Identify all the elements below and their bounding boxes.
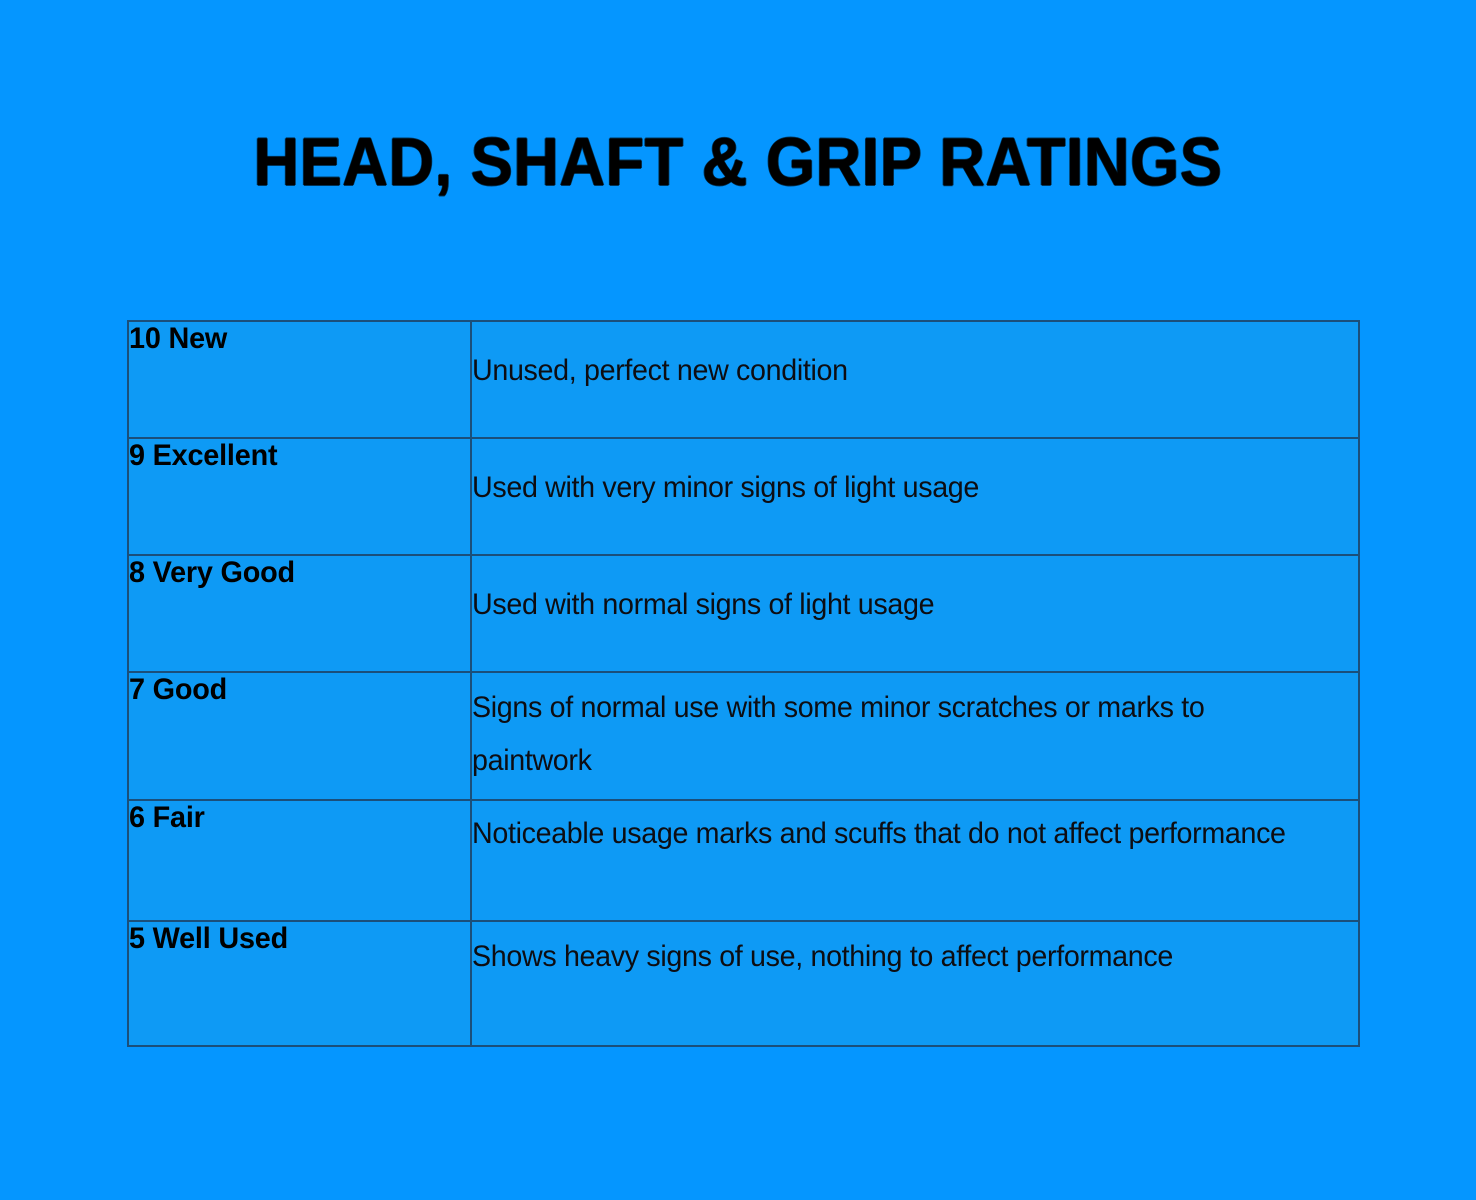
description-text: Unused, perfect new condition — [472, 322, 1318, 397]
description-text: Used with normal signs of light usage — [472, 556, 1318, 631]
table-row: 8 Very Good Used with normal signs of li… — [128, 555, 1359, 672]
grade-label: 7 Good — [129, 673, 456, 708]
grade-cell: 9 Excellent — [128, 438, 471, 555]
description-cell: Shows heavy signs of use, nothing to aff… — [471, 921, 1359, 1046]
description-text: Noticeable usage marks and scuffs that d… — [472, 805, 1318, 860]
page-title: HEAD, SHAFT & GRIP RATINGS — [254, 128, 1223, 196]
description-text: Shows heavy signs of use, nothing to aff… — [472, 928, 1318, 983]
grade-label: 6 Fair — [129, 801, 456, 836]
ratings-table-container: 10 New Unused, perfect new condition 9 E… — [127, 320, 1358, 1017]
description-cell: Signs of normal use with some minor scra… — [471, 672, 1359, 800]
title-block: HEAD, SHAFT & GRIP RATINGS — [0, 128, 1476, 196]
description-cell: Noticeable usage marks and scuffs that d… — [471, 800, 1359, 921]
grade-label: 5 Well Used — [129, 922, 456, 957]
ratings-table-body: 10 New Unused, perfect new condition 9 E… — [128, 321, 1359, 1046]
table-row: 5 Well Used Shows heavy signs of use, no… — [128, 921, 1359, 1046]
grade-cell: 10 New — [128, 321, 471, 438]
grade-label: 8 Very Good — [129, 556, 456, 591]
grade-cell: 7 Good — [128, 672, 471, 800]
description-text: Used with very minor signs of light usag… — [472, 439, 1318, 514]
grade-label: 10 New — [129, 322, 456, 357]
table-row: 7 Good Signs of normal use with some min… — [128, 672, 1359, 800]
table-row: 10 New Unused, perfect new condition — [128, 321, 1359, 438]
table-row: 6 Fair Noticeable usage marks and scuffs… — [128, 800, 1359, 921]
grade-cell: 5 Well Used — [128, 921, 471, 1046]
grade-cell: 8 Very Good — [128, 555, 471, 672]
description-cell: Unused, perfect new condition — [471, 321, 1359, 438]
description-cell: Used with normal signs of light usage — [471, 555, 1359, 672]
description-text: Signs of normal use with some minor scra… — [472, 679, 1318, 788]
ratings-slide: HEAD, SHAFT & GRIP RATINGS 10 New Unused… — [0, 0, 1476, 1200]
grade-cell: 6 Fair — [128, 800, 471, 921]
table-row: 9 Excellent Used with very minor signs o… — [128, 438, 1359, 555]
description-cell: Used with very minor signs of light usag… — [471, 438, 1359, 555]
ratings-table: 10 New Unused, perfect new condition 9 E… — [127, 320, 1360, 1047]
grade-label: 9 Excellent — [129, 439, 456, 474]
